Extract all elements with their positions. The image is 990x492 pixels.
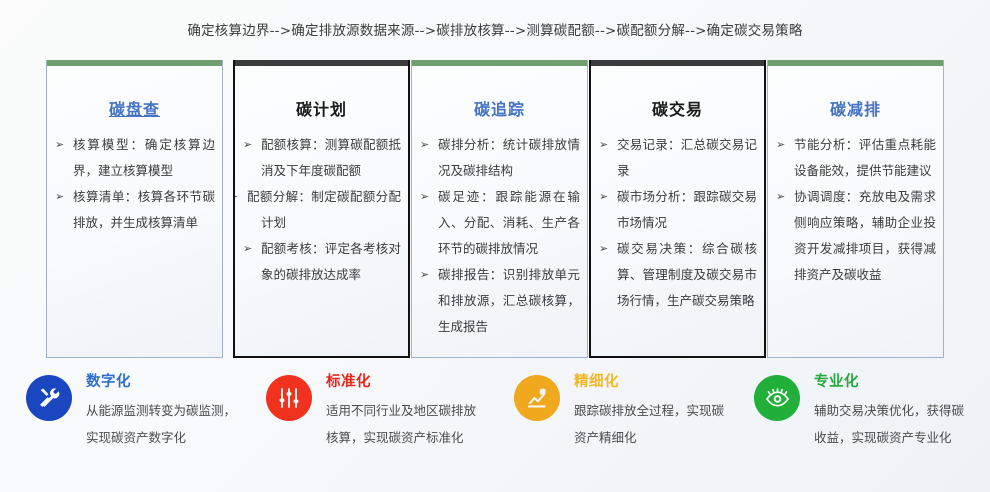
list-item-text: 配额核算：测算碳配额抵消及下年度碳配额 bbox=[261, 137, 401, 178]
feature-title: 精细化 bbox=[574, 370, 736, 391]
list-item: ➢核算模型：确定核算边界，建立核算模型 bbox=[53, 132, 215, 184]
bullet-arrow-icon: ➢ bbox=[420, 262, 429, 288]
list-item-text: 协调调度：充放电及需求侧响应策略，辅助企业投资开发减排项目，获得减排资产及碳收益 bbox=[794, 189, 936, 282]
list-item: ➢节能分析：评估重点耗能设备能效，提供节能建议 bbox=[774, 132, 936, 184]
feature-title: 标准化 bbox=[326, 370, 488, 391]
card-bullet-list: ➢核算模型：确定核算边界，建立核算模型 ➢核算清单：核算各环节碳排放，并生成核算… bbox=[47, 132, 222, 236]
feature-body: 数字化 从能源监测转变为碳监测，实现碳资产数字化 bbox=[86, 370, 248, 451]
card-title: 碳追踪 bbox=[412, 96, 587, 120]
list-item: ➢配额核算：测算碳配额抵消及下年度碳配额 bbox=[241, 132, 401, 184]
tools-icon bbox=[26, 375, 72, 421]
card-carbon-plan[interactable]: 碳计划 ➢配额核算：测算碳配额抵消及下年度碳配额 ➢配额分解：制定碳配额分配计划… bbox=[233, 60, 410, 358]
list-item: ➢碳交易决策：综合碳核算、管理制度及碳交易市场行情，生产碳交易策略 bbox=[597, 236, 757, 314]
list-item-text: 交易记录：汇总碳交易记录 bbox=[617, 137, 757, 178]
card-bullet-list: ➢配额核算：测算碳配额抵消及下年度碳配额 ➢配额分解：制定碳配额分配计划 ➢配额… bbox=[235, 132, 408, 288]
list-item-text: 碳交易决策：综合碳核算、管理制度及碳交易市场行情，生产碳交易策略 bbox=[617, 241, 757, 308]
card-top-accent-bar bbox=[235, 60, 408, 66]
card-title: 碳盘查 bbox=[47, 96, 222, 120]
feature-body: 精细化 跟踪碳排放全过程，实现碳资产精细化 bbox=[574, 370, 736, 451]
bullet-arrow-icon: ➢ bbox=[776, 184, 785, 210]
process-flow-header: 确定核算边界-->确定排放源数据来源-->碳排放核算-->测算碳配额-->碳配额… bbox=[0, 22, 990, 40]
list-item-text: 碳足迹：跟踪能源在输入、分配、消耗、生产各环节的碳排放情况 bbox=[438, 189, 580, 256]
eye-icon bbox=[754, 375, 800, 421]
list-item: ➢碳市场分析：跟踪碳交易市场情况 bbox=[597, 184, 757, 236]
feature-highlights-row: 数字化 从能源监测转变为碳监测，实现碳资产数字化 bbox=[0, 366, 990, 492]
sliders-icon bbox=[266, 375, 312, 421]
bullet-arrow-icon: ➢ bbox=[55, 132, 64, 158]
feature-description: 辅助交易决策优化，获得碳收益，实现碳资产专业化 bbox=[814, 397, 976, 451]
list-item-text: 节能分析：评估重点耗能设备能效，提供节能建议 bbox=[794, 137, 936, 178]
feature-title: 专业化 bbox=[814, 370, 976, 391]
feature-professionalization[interactable]: 专业化 辅助交易决策优化，获得碳收益，实现碳资产专业化 bbox=[736, 366, 976, 492]
feature-title: 数字化 bbox=[86, 370, 248, 391]
card-bullet-list: ➢交易记录：汇总碳交易记录 ➢碳市场分析：跟踪碳交易市场情况 ➢碳交易决策：综合… bbox=[591, 132, 764, 314]
feature-standardization[interactable]: 标准化 适用不同行业及地区碳排放核算，实现碳资产标准化 bbox=[248, 366, 488, 492]
list-item: ➢交易记录：汇总碳交易记录 bbox=[597, 132, 757, 184]
feature-description: 从能源监测转变为碳监测，实现碳资产数字化 bbox=[86, 397, 248, 451]
card-bullet-list: ➢节能分析：评估重点耗能设备能效，提供节能建议 ➢协调调度：充放电及需求侧响应策… bbox=[768, 132, 943, 288]
list-item-text: 配额考核：评定各考核对象的碳排放达成率 bbox=[261, 241, 401, 282]
card-title: 碳减排 bbox=[768, 96, 943, 120]
bullet-arrow-icon: ➢ bbox=[599, 132, 608, 158]
list-item: ➢协调调度：充放电及需求侧响应策略，辅助企业投资开发减排项目，获得减排资产及碳收… bbox=[774, 184, 936, 288]
list-item: ➢碳排分析：统计碳排放情况及碳排结构 bbox=[418, 132, 580, 184]
chart-analysis-icon bbox=[514, 375, 560, 421]
capability-cards-row: 碳盘查 ➢核算模型：确定核算边界，建立核算模型 ➢核算清单：核算各环节碳排放，并… bbox=[46, 60, 946, 360]
card-carbon-inventory[interactable]: 碳盘查 ➢核算模型：确定核算边界，建立核算模型 ➢核算清单：核算各环节碳排放，并… bbox=[46, 60, 223, 358]
bullet-arrow-icon: ➢ bbox=[420, 184, 429, 210]
bullet-arrow-icon: ➢ bbox=[243, 236, 252, 262]
list-item: ➢配额分解：制定碳配额分配计划 bbox=[241, 184, 401, 236]
feature-body: 专业化 辅助交易决策优化，获得碳收益，实现碳资产专业化 bbox=[814, 370, 976, 451]
card-top-accent-bar bbox=[768, 60, 943, 66]
feature-refinement[interactable]: 精细化 跟踪碳排放全过程，实现碳资产精细化 bbox=[496, 366, 736, 492]
list-item-text: 碳排分析：统计碳排放情况及碳排结构 bbox=[438, 137, 580, 178]
bullet-arrow-icon: ➢ bbox=[420, 132, 429, 158]
card-title: 碳计划 bbox=[235, 96, 408, 120]
feature-description: 适用不同行业及地区碳排放核算，实现碳资产标准化 bbox=[326, 397, 488, 451]
card-carbon-trading[interactable]: 碳交易 ➢交易记录：汇总碳交易记录 ➢碳市场分析：跟踪碳交易市场情况 ➢碳交易决… bbox=[589, 60, 766, 358]
list-item-text: 碳排报告：识别排放单元和排放源，汇总碳核算，生成报告 bbox=[438, 267, 580, 334]
list-item-text: 配额分解：制定碳配额分配计划 bbox=[247, 189, 401, 230]
card-top-accent-bar bbox=[412, 60, 587, 66]
bullet-arrow-icon: ➢ bbox=[599, 236, 608, 262]
list-item: ➢碳足迹：跟踪能源在输入、分配、消耗、生产各环节的碳排放情况 bbox=[418, 184, 580, 262]
bullet-arrow-icon: ➢ bbox=[55, 184, 64, 210]
feature-description: 跟踪碳排放全过程，实现碳资产精细化 bbox=[574, 397, 736, 451]
card-top-accent-bar bbox=[47, 60, 222, 66]
list-item-text: 核算模型：确定核算边界，建立核算模型 bbox=[73, 137, 215, 178]
card-carbon-tracking[interactable]: 碳追踪 ➢碳排分析：统计碳排放情况及碳排结构 ➢碳足迹：跟踪能源在输入、分配、消… bbox=[411, 60, 588, 358]
card-top-accent-bar bbox=[591, 60, 764, 66]
card-title: 碳交易 bbox=[591, 96, 764, 120]
slide-root: 确定核算边界-->确定排放源数据来源-->碳排放核算-->测算碳配额-->碳配额… bbox=[0, 0, 990, 492]
bullet-arrow-icon: ➢ bbox=[599, 184, 608, 210]
bullet-arrow-icon: ➢ bbox=[243, 132, 252, 158]
bullet-arrow-icon: ➢ bbox=[776, 132, 785, 158]
feature-digitalization[interactable]: 数字化 从能源监测转变为碳监测，实现碳资产数字化 bbox=[8, 366, 248, 492]
list-item: ➢配额考核：评定各考核对象的碳排放达成率 bbox=[241, 236, 401, 288]
list-item: ➢碳排报告：识别排放单元和排放源，汇总碳核算，生成报告 bbox=[418, 262, 580, 340]
card-carbon-reduction[interactable]: 碳减排 ➢节能分析：评估重点耗能设备能效，提供节能建议 ➢协调调度：充放电及需求… bbox=[767, 60, 944, 358]
card-bullet-list: ➢碳排分析：统计碳排放情况及碳排结构 ➢碳足迹：跟踪能源在输入、分配、消耗、生产… bbox=[412, 132, 587, 340]
list-item: ➢核算清单：核算各环节碳排放，并生成核算清单 bbox=[53, 184, 215, 236]
list-item-text: 碳市场分析：跟踪碳交易市场情况 bbox=[617, 189, 757, 230]
feature-body: 标准化 适用不同行业及地区碳排放核算，实现碳资产标准化 bbox=[326, 370, 488, 451]
list-item-text: 核算清单：核算各环节碳排放，并生成核算清单 bbox=[73, 189, 215, 230]
